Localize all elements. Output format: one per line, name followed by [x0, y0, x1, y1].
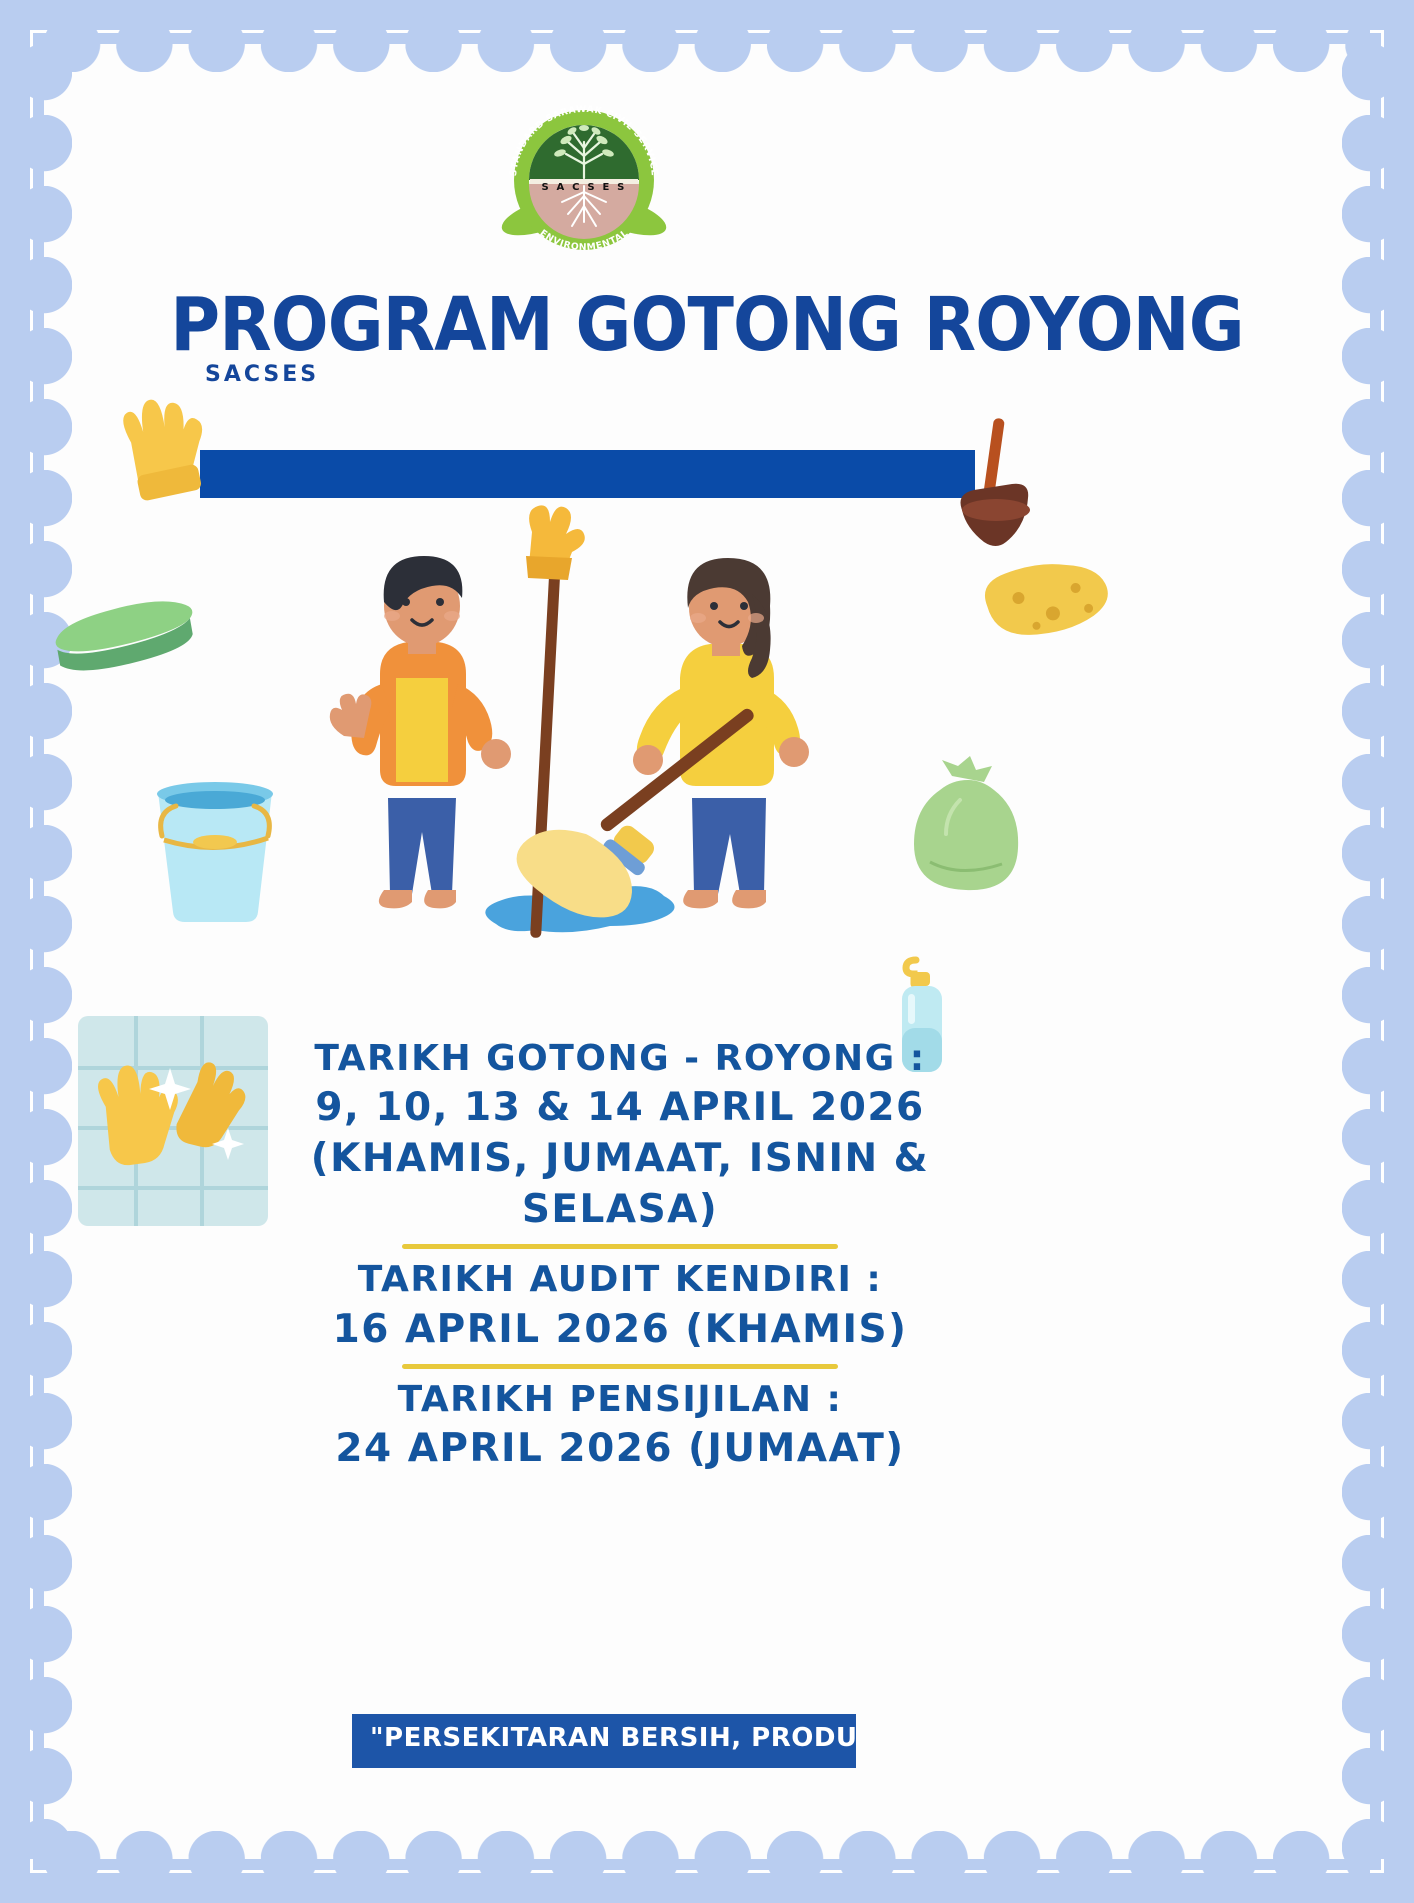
- pensijilan-date: 24 APRIL 2026 (JUMAAT): [300, 1424, 940, 1475]
- divider-1: [402, 1244, 838, 1249]
- yellow-glove-icon: [104, 388, 224, 518]
- divider-2: [402, 1364, 838, 1369]
- gotong-royong-date: 9, 10, 13 & 14 APRIL 2026: [300, 1083, 940, 1134]
- pensijilan-label: TARIKH PENSIJILAN :: [300, 1376, 940, 1424]
- poster-root: S A C S E S STANDARD SARAWAK CIVIL SERVI…: [0, 0, 1414, 1903]
- page-subtitle: SACSES: [205, 362, 319, 387]
- tagline-text: "PERSEKITARAN BERSIH, PRODUKTIVITI MENIN…: [370, 1723, 856, 1753]
- two-people-cleaning-illustration: [300, 498, 900, 1008]
- tagline-banner: "PERSEKITARAN BERSIH, PRODUKTIVITI MENIN…: [352, 1714, 856, 1768]
- gotong-royong-days: (KHAMIS, JUMAAT, ISNIN & SELASA): [300, 1134, 940, 1235]
- info-block: TARIKH GOTONG - ROYONG : 9, 10, 13 & 14 …: [300, 1035, 940, 1475]
- sacses-logo: S A C S E S STANDARD SARAWAK CIVIL SERVI…: [494, 98, 674, 253]
- audit-label: TARIKH AUDIT KENDIRI :: [300, 1256, 940, 1304]
- accent-bar: [200, 450, 975, 498]
- green-sponge-icon: [44, 586, 204, 686]
- yellow-sponge-icon: [978, 552, 1118, 662]
- page-title: PROGRAM GOTONG ROYONG: [57, 282, 1358, 368]
- gotong-royong-label: TARIKH GOTONG - ROYONG :: [300, 1035, 940, 1083]
- audit-date: 16 APRIL 2026 (KHAMIS): [300, 1305, 940, 1356]
- green-trash-bag-icon: [900, 754, 1030, 904]
- blue-bucket-icon: [140, 770, 290, 930]
- tiled-wall-gloves-icon: [78, 1016, 268, 1226]
- logo-center-text: S A C S E S: [541, 182, 626, 193]
